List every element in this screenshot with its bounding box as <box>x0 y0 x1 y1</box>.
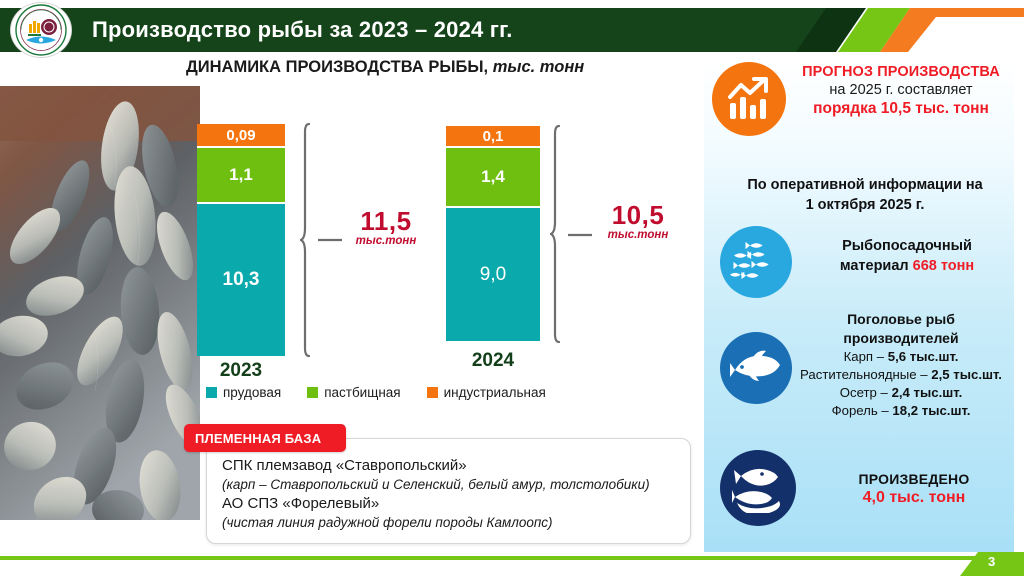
stocking-label-line2: материал 668 тонн <box>800 256 1014 276</box>
bar-2023-label-pond: 10,3 <box>223 269 260 291</box>
breeding-base-line3: АО СПЗ «Форелевый» <box>222 494 692 513</box>
bar-2023-label-pasture: 1,1 <box>229 165 253 185</box>
total-2024: 10,5 тыс.тонн <box>588 200 688 241</box>
total-2023-unit: тыс.тонн <box>336 235 436 247</box>
broodstock-heading-line2: производителей <box>788 329 1014 348</box>
stocking-label-line1: Рыбопосадочный <box>800 236 1014 256</box>
breeding-base-line4: (чистая линия радужной форели породы Кам… <box>222 513 692 532</box>
broodstock-value-trout: 18,2 тыс.шт. <box>892 403 970 418</box>
stocking-value: 668 тонн <box>913 258 975 274</box>
broodstock-row-carp: Карп – 5,6 тыс.шт. <box>788 348 1014 366</box>
fish-school-icon <box>720 226 792 298</box>
stocking-label-prefix: материал <box>840 258 913 274</box>
legend-label-pasture: пастбищная <box>324 385 400 400</box>
bar-2024-segment-industrial: 0,1 <box>446 126 540 148</box>
broodstock-name-herbivorous: Растительноядные – <box>800 367 931 382</box>
bar-2024-segment-pasture: 1,4 <box>446 148 540 208</box>
bar-2024-category-label: 2024 <box>446 350 540 372</box>
broodstock-name-trout: Форель – <box>832 403 893 418</box>
legend-item-industrial: индустриальная <box>427 385 546 400</box>
growth-chart-arrow-icon <box>712 62 786 136</box>
forecast-text-block: ПРОГНОЗ ПРОИЗВОДСТВА на 2025 г. составля… <box>792 64 1010 118</box>
broodstock-value-carp: 5,6 тыс.шт. <box>888 349 959 364</box>
broodstock-name-carp: Карп – <box>844 349 888 364</box>
bar-2023-label-industrial: 0,09 <box>226 127 255 144</box>
produced-value: 4,0 тыс. тонн <box>814 489 1014 507</box>
bar-2023-category-label: 2023 <box>197 360 285 382</box>
legend-label-industrial: индустриальная <box>444 385 546 400</box>
broodstock-row-trout: Форель – 18,2 тыс.шт. <box>788 402 1014 420</box>
broodstock-value-sturgeon: 2,4 тыс.шт. <box>892 385 963 400</box>
page-number: 3 <box>988 554 995 569</box>
broodstock-row-sturgeon: Осетр – 2,4 тыс.шт. <box>788 384 1014 402</box>
bar-2024-segment-pond: 9,0 <box>446 208 540 341</box>
legend-swatch-pasture <box>307 387 318 398</box>
total-2024-unit: тыс.тонн <box>588 229 688 241</box>
legend-label-pond: прудовая <box>223 385 281 400</box>
bar-2023-segment-pond: 10,3 <box>197 204 285 356</box>
legend-swatch-industrial <box>427 387 438 398</box>
operative-info-line2: 1 октября 2025 г. <box>720 195 1010 215</box>
bar-2023-segment-industrial: 0,09 <box>197 124 285 148</box>
footer-white-band <box>0 560 1024 576</box>
produced-text-block: ПРОИЗВЕДЕНО 4,0 тыс. тонн <box>814 471 1014 507</box>
legend-swatch-pond <box>206 387 217 398</box>
breeding-base-badge: ПЛЕМЕННАЯ БАЗА <box>184 424 346 452</box>
operative-info-note: По оперативной информации на 1 октября 2… <box>720 175 1010 215</box>
broodstock-heading-line1: Поголовье рыб <box>788 310 1014 329</box>
slide-root: Производство рыбы за 2023 – 2024 гг. ДИН… <box>0 0 1024 576</box>
forecast-title: ПРОГНОЗ ПРОИЗВОДСТВА <box>792 64 1010 80</box>
broodstock-name-sturgeon: Осетр – <box>840 385 892 400</box>
bar-2023: 0,09 1,1 10,3 <box>197 124 285 356</box>
broodstock-value-herbivorous: 2,5 тыс.шт. <box>931 367 1002 382</box>
forecast-value: порядка 10,5 тыс. тонн <box>792 100 1010 118</box>
bar-2024-label-pasture: 1,4 <box>481 167 505 187</box>
stocking-text-block: Рыбопосадочный материал 668 тонн <box>800 236 1014 276</box>
bar-2024-label-industrial: 0,1 <box>483 128 504 145</box>
breeding-base-line2: (карп – Ставропольский и Селенский, белы… <box>222 475 692 494</box>
produced-title: ПРОИЗВЕДЕНО <box>814 471 1014 487</box>
forecast-subtitle: на 2025 г. составляет <box>792 82 1010 98</box>
breeding-base-content: СПК племзавод «Ставропольский» (карп – С… <box>222 456 692 532</box>
bar-2024-label-pond: 9,0 <box>480 264 506 286</box>
total-2023-value: 11,5 <box>336 206 436 237</box>
total-2024-value: 10,5 <box>588 200 688 231</box>
legend-item-pasture: пастбищная <box>307 385 400 400</box>
total-2023: 11,5 тыс.тонн <box>336 206 436 247</box>
single-fish-icon <box>720 332 792 404</box>
legend-item-pond: прудовая <box>206 385 281 400</box>
bar-2024: 0,1 1,4 9,0 <box>446 126 540 341</box>
right-info-panel: ПРОГНОЗ ПРОИЗВОДСТВА на 2025 г. составля… <box>704 60 1014 552</box>
breeding-base-line1: СПК племзавод «Ставропольский» <box>222 456 692 475</box>
operative-info-line1: По оперативной информации на <box>720 175 1010 195</box>
fish-in-hand-icon <box>720 450 796 526</box>
broodstock-text-block: Поголовье рыб производителей Карп – 5,6 … <box>788 310 1014 420</box>
bar-2023-segment-pasture: 1,1 <box>197 148 285 204</box>
broodstock-row-herbivorous: Растительноядные – 2,5 тыс.шт. <box>788 366 1014 384</box>
chart-legend: прудовая пастбищная индустриальная <box>206 385 546 400</box>
